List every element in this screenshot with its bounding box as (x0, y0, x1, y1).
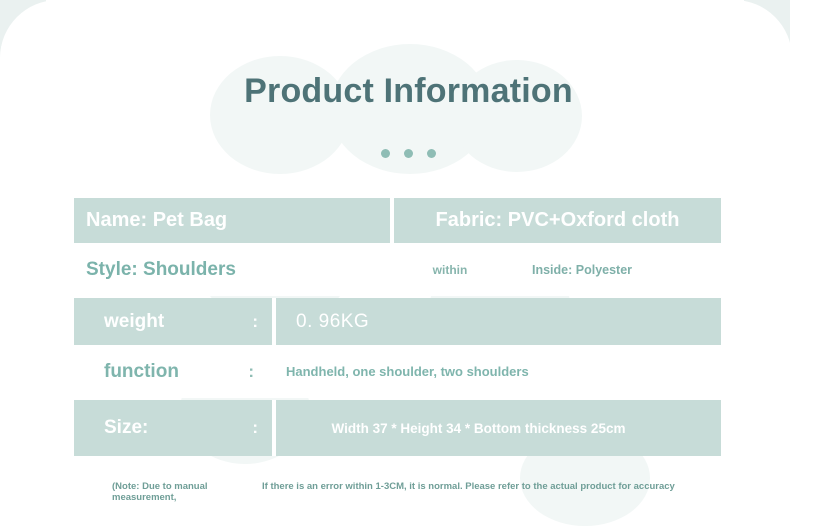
note-part-2: If there is an error within 1-3CM, it is… (262, 481, 721, 492)
cell-style: Style: Shoulders (74, 243, 390, 296)
page-title: Product Information (0, 72, 817, 111)
cell-within: within (390, 243, 510, 296)
measurement-note: (Note: Due to manual measurement, If the… (74, 481, 721, 503)
function-label-text: function (104, 361, 179, 383)
note-part-1: (Note: Due to manual measurement, (74, 481, 262, 503)
size-label-text: Size: (104, 417, 148, 439)
decorative-dots (0, 149, 817, 158)
card-corner-mask-right (732, 0, 792, 82)
table-row-name-fabric: Name: Pet Bag Fabric: PVC+Oxford cloth (74, 198, 721, 243)
cell-weight-label: weight : (74, 298, 272, 345)
card-corner-mask-left (0, 0, 60, 80)
cell-weight-value: 0. 96KG (276, 298, 721, 345)
function-colon: : (248, 362, 254, 382)
cell-size-label: Size: : (74, 400, 272, 456)
card-corner-tint-left (0, 0, 46, 62)
table-row-size: Size: : Width 37 * Height 34 * Bottom th… (74, 400, 721, 456)
specification-table: Name: Pet Bag Fabric: PVC+Oxford cloth S… (74, 198, 721, 456)
table-row-weight: weight : 0. 96KG (74, 298, 721, 345)
dot-3 (427, 149, 436, 158)
cell-function-value: Handheld, one shoulder, two shoulders (272, 345, 721, 398)
cell-size-value: Width 37 * Height 34 * Bottom thickness … (276, 400, 721, 456)
weight-label-text: weight (104, 311, 164, 333)
dot-2 (404, 149, 413, 158)
cell-inside-material: Inside: Polyester (510, 243, 721, 296)
product-information-card: Product Information Name: Pet Bag Fabric… (0, 0, 817, 527)
size-colon: : (252, 418, 258, 438)
cell-product-name: Name: Pet Bag (74, 198, 390, 243)
table-row-style: Style: Shoulders within Inside: Polyeste… (74, 243, 721, 296)
cell-function-label: function : (74, 345, 272, 398)
dot-1 (381, 149, 390, 158)
weight-colon: : (252, 312, 258, 332)
cell-fabric: Fabric: PVC+Oxford cloth (394, 198, 721, 243)
table-row-function: function : Handheld, one shoulder, two s… (74, 345, 721, 398)
card-corner-tint-right (744, 0, 792, 64)
